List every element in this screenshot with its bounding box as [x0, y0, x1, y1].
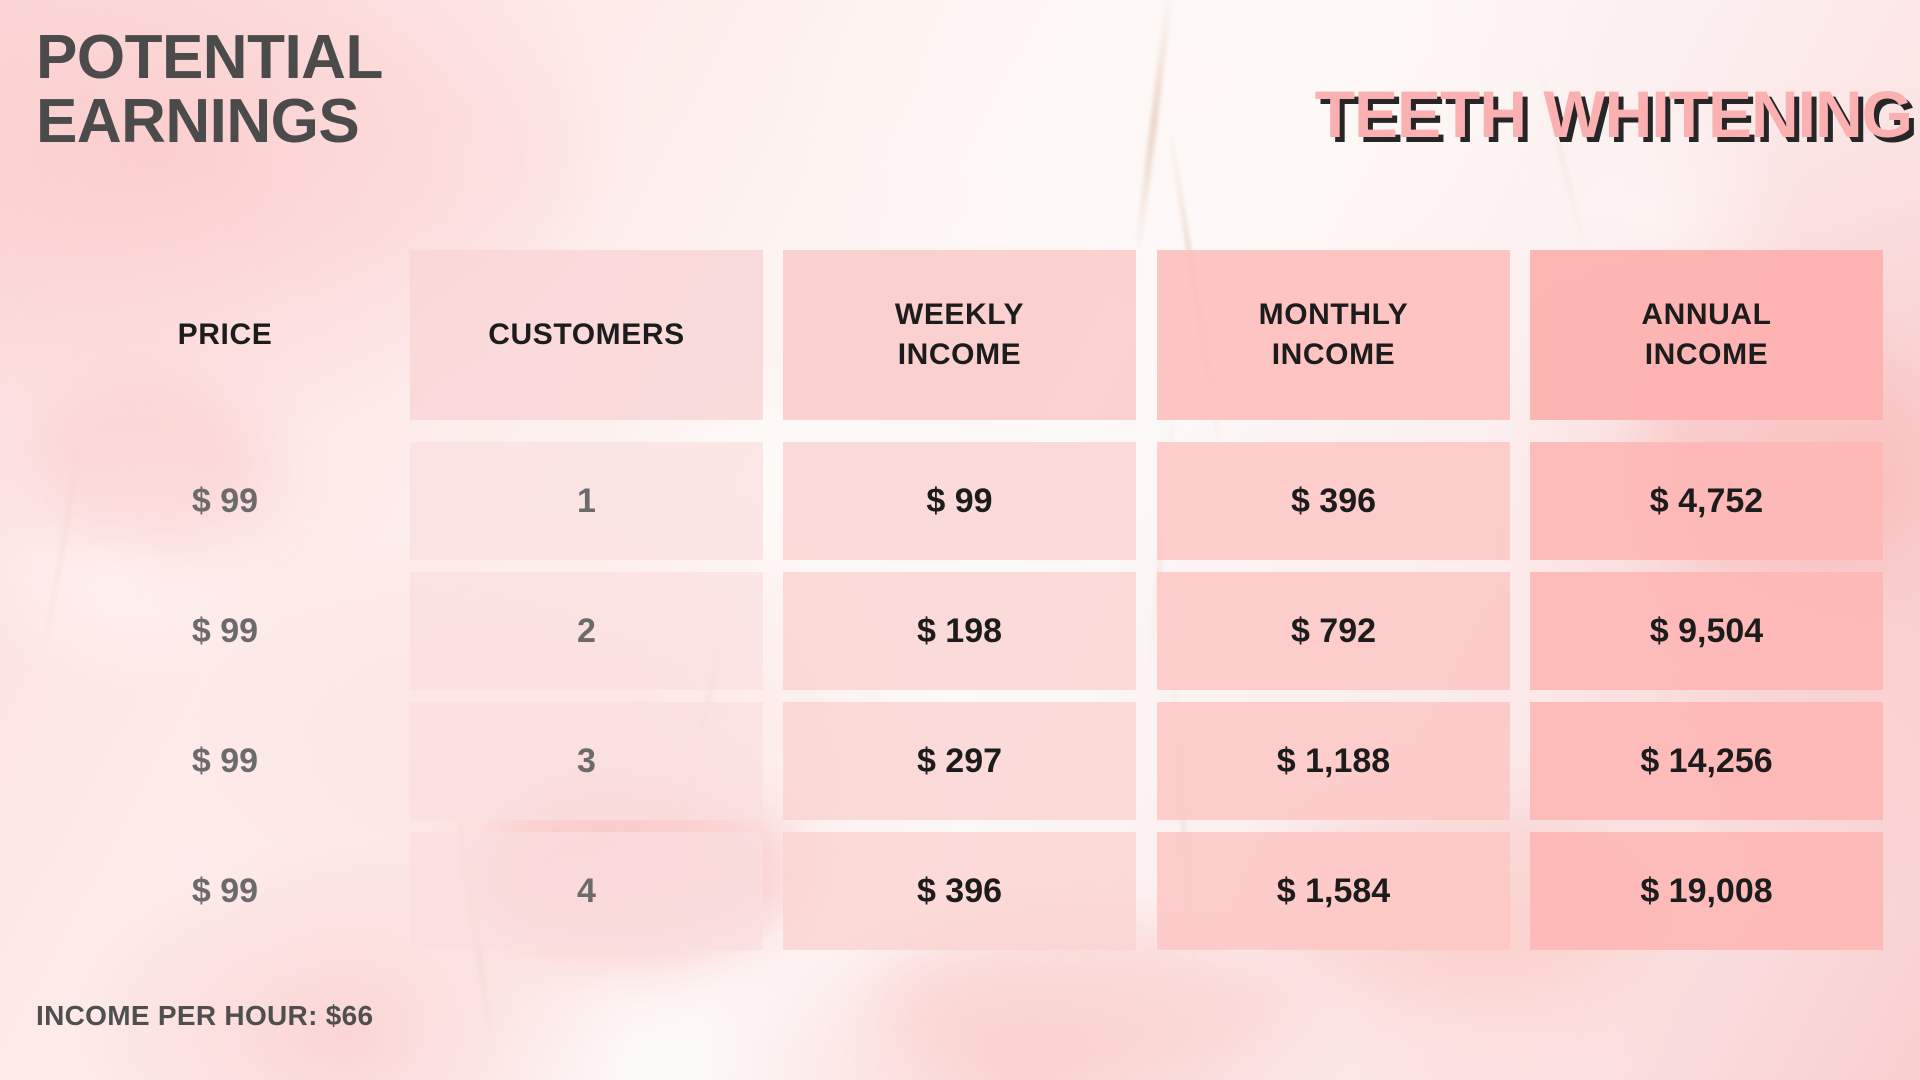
table-row: $ 99 3 $ 297 $ 1,188 $ 14,256 [0, 702, 1920, 820]
cell-monthly-income: $ 1,188 [1157, 702, 1510, 820]
cell-annual-income: $ 4,752 [1530, 442, 1883, 560]
cell-weekly-income: $ 297 [783, 702, 1136, 820]
cell-weekly-income: $ 198 [783, 572, 1136, 690]
cell-customers: 4 [410, 832, 763, 950]
table-row: $ 99 1 $ 99 $ 396 $ 4,752 [0, 442, 1920, 560]
income-per-hour-note: INCOME PER HOUR: $66 [36, 1000, 373, 1032]
cell-customers: 2 [410, 572, 763, 690]
cell-customers: 1 [410, 442, 763, 560]
cell-price: $ 99 [40, 572, 410, 690]
cell-weekly-income: $ 99 [783, 442, 1136, 560]
column-header-customers: CUSTOMERS [410, 250, 763, 420]
cell-customers: 3 [410, 702, 763, 820]
table-header-row: PRICE CUSTOMERS WEEKLYINCOME MONTHLYINCO… [0, 250, 1920, 420]
cell-price: $ 99 [40, 442, 410, 560]
page-title-line-2: EARNINGS [36, 90, 656, 154]
cell-annual-income: $ 19,008 [1530, 832, 1883, 950]
cell-weekly-income: $ 396 [783, 832, 1136, 950]
cell-monthly-income: $ 792 [1157, 572, 1510, 690]
earnings-table: PRICE CUSTOMERS WEEKLYINCOME MONTHLYINCO… [0, 250, 1920, 962]
cell-monthly-income: $ 396 [1157, 442, 1510, 560]
brand-heading: TEETH WHITENING [1315, 76, 1912, 152]
table-row: $ 99 2 $ 198 $ 792 $ 9,504 [0, 572, 1920, 690]
cell-monthly-income: $ 1,584 [1157, 832, 1510, 950]
cell-annual-income: $ 14,256 [1530, 702, 1883, 820]
column-header-price: PRICE [40, 250, 410, 420]
column-header-weekly-income: WEEKLYINCOME [783, 250, 1136, 420]
cell-annual-income: $ 9,504 [1530, 572, 1883, 690]
page-title: POTENTIAL EARNINGS [36, 26, 656, 154]
cell-price: $ 99 [40, 832, 410, 950]
table-row: $ 99 4 $ 396 $ 1,584 $ 19,008 [0, 832, 1920, 950]
cell-price: $ 99 [40, 702, 410, 820]
column-header-monthly-income: MONTHLYINCOME [1157, 250, 1510, 420]
column-header-annual-income: ANNUALINCOME [1530, 250, 1883, 420]
page-title-line-1: POTENTIAL [36, 26, 656, 90]
